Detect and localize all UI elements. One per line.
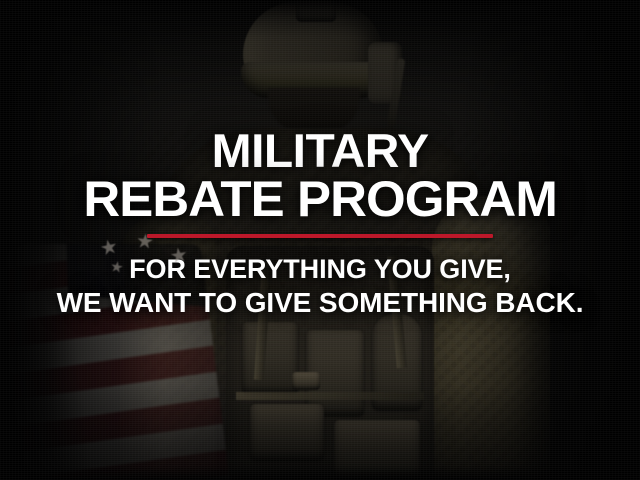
headline-line-2: REBATE PROGRAM <box>83 175 557 223</box>
headline-line-1: MILITARY <box>83 127 557 175</box>
subheadline-line-2: WE WANT TO GIVE SOMETHING BACK. <box>57 286 584 319</box>
military-rebate-banner: ★ ★ ★ ★ MILITARY REBATE PROGRAM FOR EVER… <box>0 0 640 480</box>
flag-stars: ★ ★ ★ ★ <box>96 232 216 276</box>
headline: MILITARY REBATE PROGRAM <box>83 127 557 223</box>
